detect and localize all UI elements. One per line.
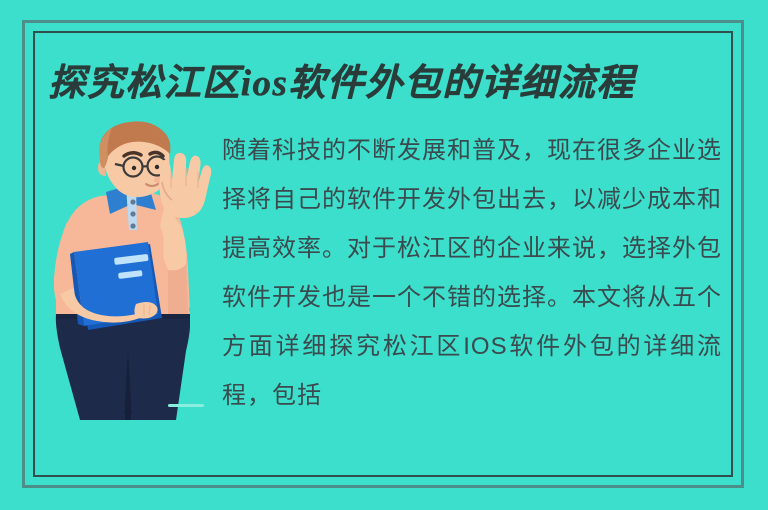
shirt-button-2	[130, 211, 135, 216]
eye-right	[155, 165, 159, 169]
article-cover-card: 探究松江区ios软件外包的详细流程 随着科技的不断发展和普及，现在很多企业选择将…	[0, 0, 768, 510]
right-forearm	[163, 219, 186, 270]
eye-left	[132, 166, 136, 170]
body-paragraph: 随着科技的不断发展和普及，现在很多企业选择将自己的软件开发外包出去，以减少成本和…	[222, 126, 722, 420]
ground-accent-line	[168, 404, 204, 407]
illustration-man-waving-holding-book	[40, 118, 220, 420]
page-title: 探究松江区ios软件外包的详细流程	[48, 57, 708, 111]
shirt-button-3	[130, 223, 135, 228]
shirt-button-1	[130, 199, 135, 204]
